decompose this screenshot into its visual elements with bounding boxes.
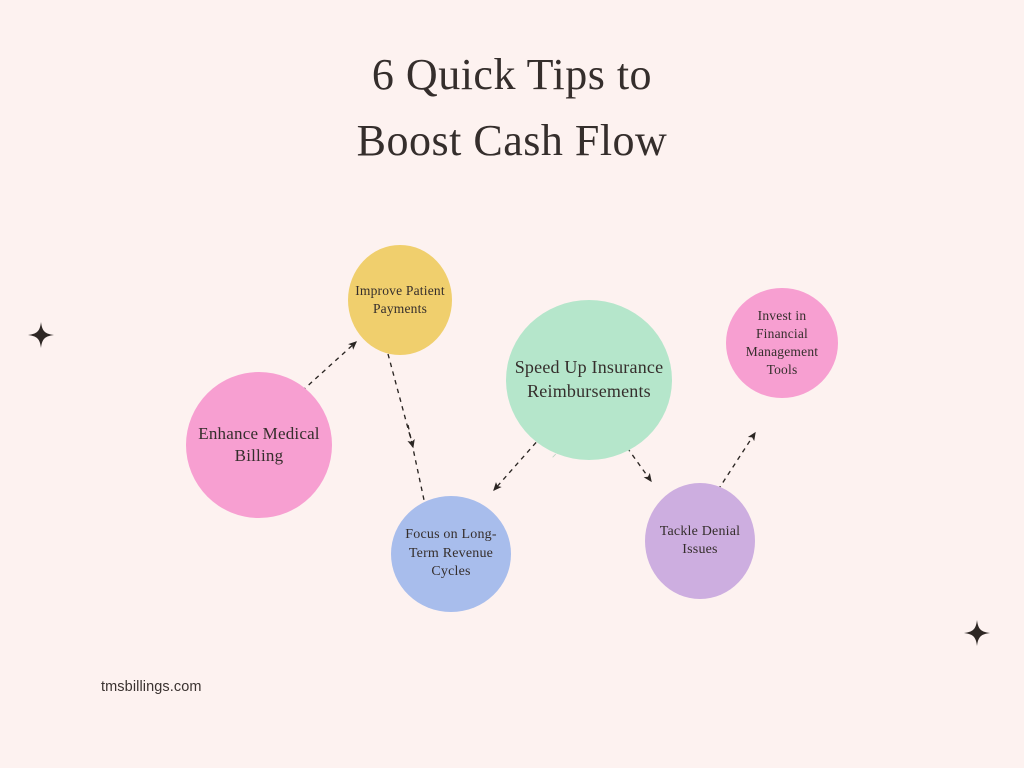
infographic-canvas: 6 Quick Tips to Boost Cash Flow bbox=[0, 0, 1024, 768]
site-url[interactable]: tmsbillings.com bbox=[101, 679, 202, 695]
sparkle-star-icon bbox=[28, 322, 54, 348]
node-focus-on-long-term-revenue-cycles[interactable]: Focus on Long-Term Revenue Cycles bbox=[391, 496, 511, 612]
node-invest-in-financial-management-tools[interactable]: Invest in Financial Management Tools bbox=[726, 288, 838, 398]
node-enhance-medical-billing[interactable]: Enhance Medical Billing bbox=[186, 372, 332, 518]
node-tackle-denial-issues[interactable]: Tackle Denial Issues bbox=[645, 483, 755, 599]
edge-improve-patient-payments-tail bbox=[408, 425, 424, 500]
node-tackle-denial-issues-label: Tackle Denial Issues bbox=[645, 523, 755, 560]
edge-improve-patient-payments-to-focus-on-long-term-revenue-cycles bbox=[388, 354, 413, 447]
node-speed-up-insurance-reimbursements-label: Speed Up Insurance Reimbursements bbox=[506, 356, 672, 404]
node-enhance-medical-billing-label: Enhance Medical Billing bbox=[186, 423, 332, 468]
node-focus-on-long-term-revenue-cycles-label: Focus on Long-Term Revenue Cycles bbox=[391, 526, 511, 581]
node-invest-in-financial-management-tools-label: Invest in Financial Management Tools bbox=[726, 307, 838, 378]
node-improve-patient-payments[interactable]: Improve Patient Payments bbox=[348, 245, 452, 355]
node-speed-up-insurance-reimbursements[interactable]: Speed Up Insurance Reimbursements bbox=[506, 300, 672, 460]
edge-tackle-denial-issues-to-invest-in-financial-management-tools bbox=[718, 433, 755, 490]
sparkle-star-icon bbox=[964, 620, 990, 646]
node-improve-patient-payments-label: Improve Patient Payments bbox=[348, 282, 452, 318]
edge-enhance-medical-billing-to-improve-patient-payments bbox=[302, 342, 356, 391]
